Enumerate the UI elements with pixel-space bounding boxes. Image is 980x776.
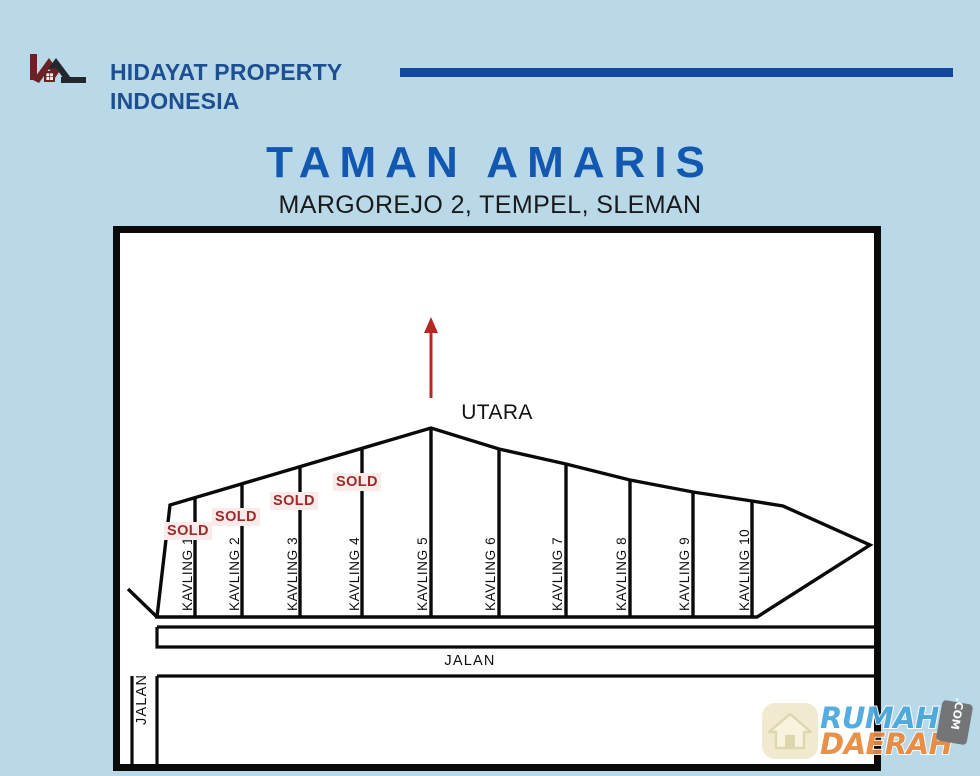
road-label-vertical: JALAN xyxy=(134,674,150,725)
plot-label-kavling-5: KAVLING 5 xyxy=(415,537,430,611)
title-block: TAMAN AMARIS MARGOREJO 2, TEMPEL, SLEMAN xyxy=(0,140,980,220)
status-badge-kavling-3: SOLD xyxy=(270,492,318,510)
brand-line-1: HIDAYAT PROPERTY xyxy=(110,58,410,87)
page-subtitle: MARGOREJO 2, TEMPEL, SLEMAN xyxy=(0,191,980,220)
plot-label-kavling-3: KAVLING 3 xyxy=(285,537,300,611)
header-divider-rule xyxy=(400,68,953,77)
page-title: TAMAN AMARIS xyxy=(0,140,980,186)
siteplan-geometry xyxy=(120,233,874,764)
brand-name: HIDAYAT PROPERTY INDONESIA xyxy=(110,58,410,117)
status-badge-kavling-2: SOLD xyxy=(212,508,260,526)
watermark: RUMAH DAERAH .COM xyxy=(762,699,967,765)
house-icon xyxy=(762,703,818,759)
plot-label-kavling-10: KAVLING 10 xyxy=(737,529,752,611)
road-label-horizontal: JALAN xyxy=(120,653,820,669)
watermark-tag-text: .COM xyxy=(948,696,966,729)
plot-label-kavling-7: KAVLING 7 xyxy=(550,537,565,611)
house-roof-logo-icon xyxy=(28,50,90,90)
status-badge-kavling-1: SOLD xyxy=(164,522,212,540)
siteplan-frame: UTARA xyxy=(113,226,881,771)
status-badge-kavling-4: SOLD xyxy=(333,473,381,491)
watermark-wordmark: RUMAH DAERAH .COM xyxy=(820,699,967,765)
watermark-word-bottom: DAERAH xyxy=(820,727,952,761)
plot-label-kavling-1: KAVLING 1 xyxy=(180,537,195,611)
plot-label-kavling-4: KAVLING 4 xyxy=(347,537,362,611)
plot-label-kavling-8: KAVLING 8 xyxy=(614,537,629,611)
page-header: HIDAYAT PROPERTY INDONESIA xyxy=(0,0,980,130)
watermark-badge xyxy=(762,703,818,759)
plot-label-kavling-2: KAVLING 2 xyxy=(227,537,242,611)
brand-line-2: INDONESIA xyxy=(110,87,410,116)
plot-label-kavling-9: KAVLING 9 xyxy=(677,537,692,611)
siteplan-canvas: UTARA xyxy=(120,233,874,764)
plot-label-kavling-6: KAVLING 6 xyxy=(483,537,498,611)
watermark-tag: .COM xyxy=(936,700,974,746)
